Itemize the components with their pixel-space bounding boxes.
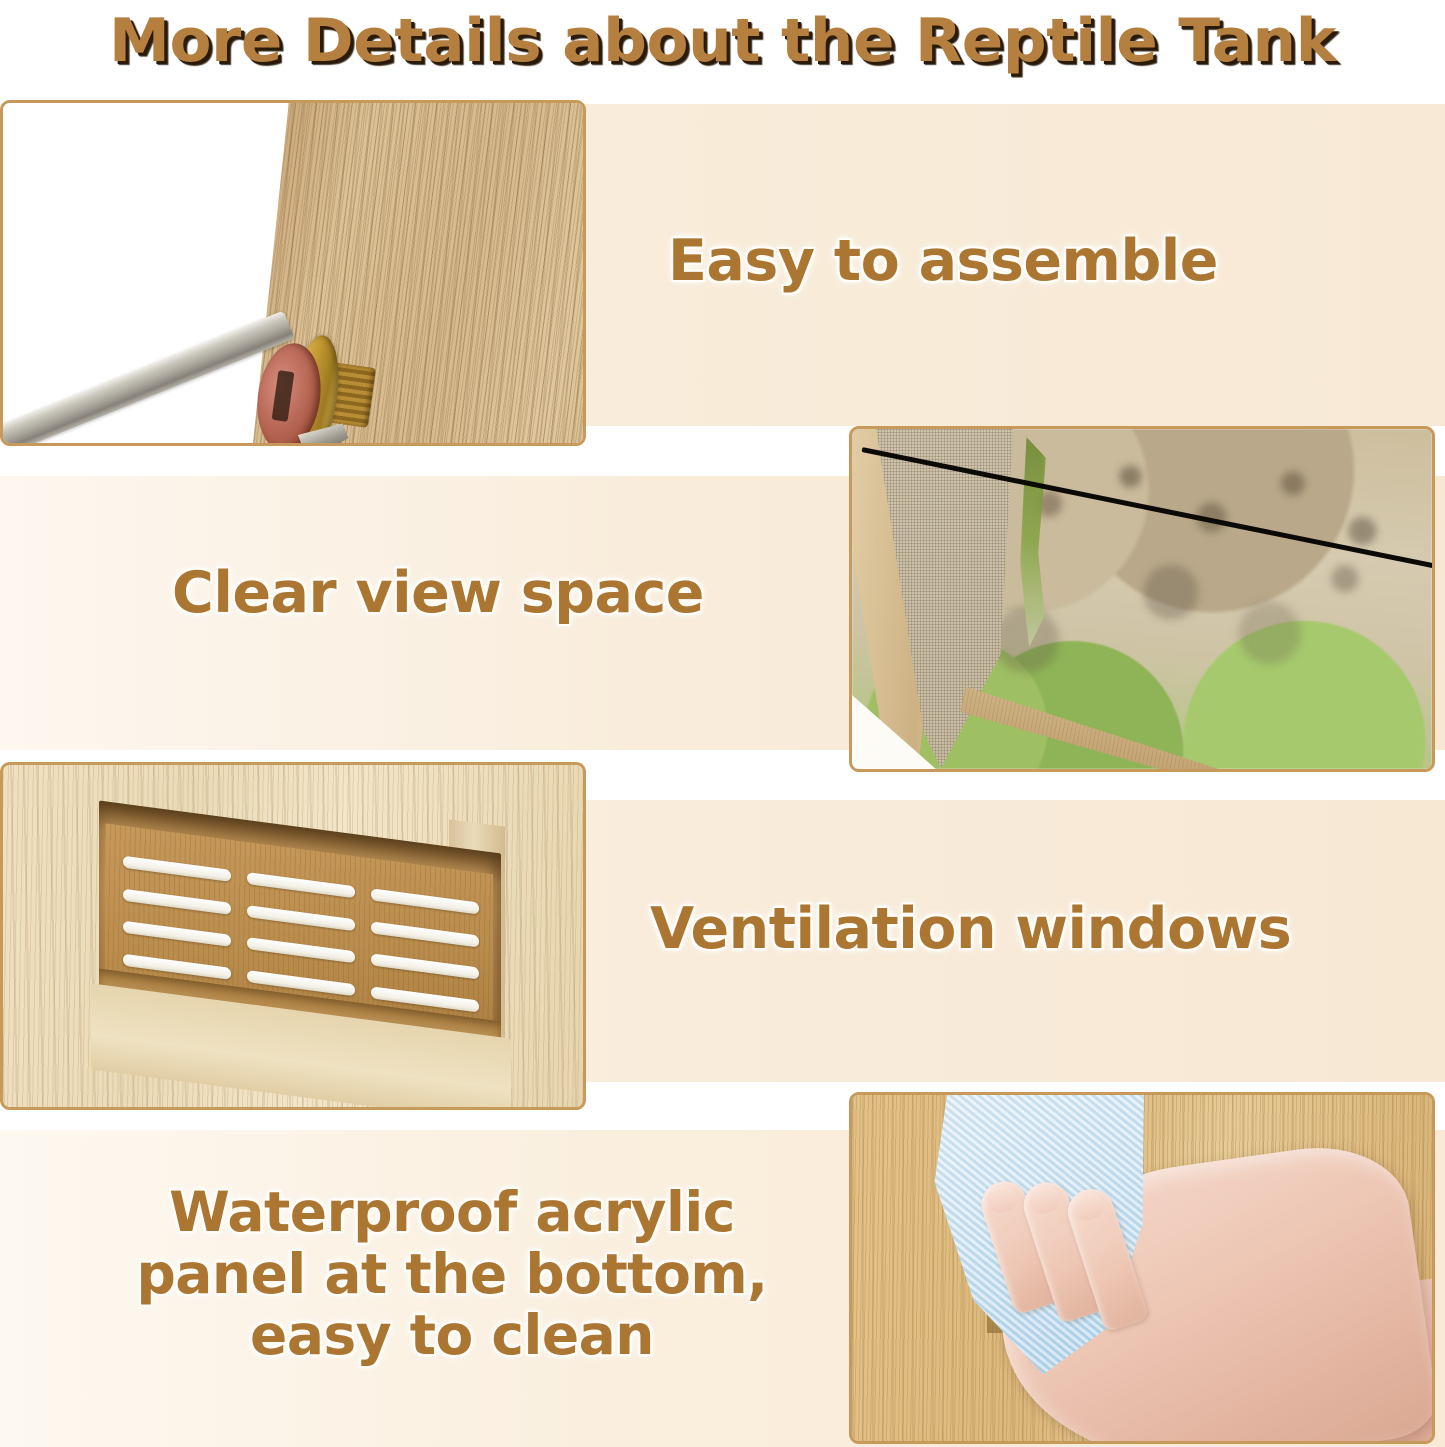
caption-waterproof-acrylic-panel: Waterproof acrylic panel at the bottom, … <box>102 1182 802 1367</box>
screwdriver-tightening-screw-photo <box>0 100 586 446</box>
vent-slot <box>247 872 355 898</box>
caption-clear-view-space: Clear view space <box>172 562 704 626</box>
photo-4-content <box>852 1095 1432 1441</box>
vent-slot <box>123 856 231 882</box>
photo-3-content <box>3 765 583 1107</box>
photo-1-content <box>3 103 583 443</box>
vent-slot <box>123 921 231 947</box>
vent-slot <box>371 921 479 947</box>
page-title: More Details about the Reptile Tank <box>0 0 1445 84</box>
hand-wiping-panel-photo <box>849 1092 1435 1444</box>
infographic-canvas: More Details about the Reptile Tank Easy… <box>0 0 1445 1447</box>
vent-slot <box>371 888 479 914</box>
mesh-screen-clear-view-photo <box>849 426 1435 772</box>
vent-slot <box>247 905 355 931</box>
ventilation-grille-photo <box>0 762 586 1110</box>
photo-2-content <box>852 429 1432 769</box>
caption-ventilation-windows: Ventilation windows <box>650 898 1291 962</box>
vent-slot <box>371 953 479 979</box>
vent-slot <box>123 888 231 914</box>
vent-slot <box>247 937 355 963</box>
caption-easy-to-assemble: Easy to assemble <box>668 230 1218 294</box>
